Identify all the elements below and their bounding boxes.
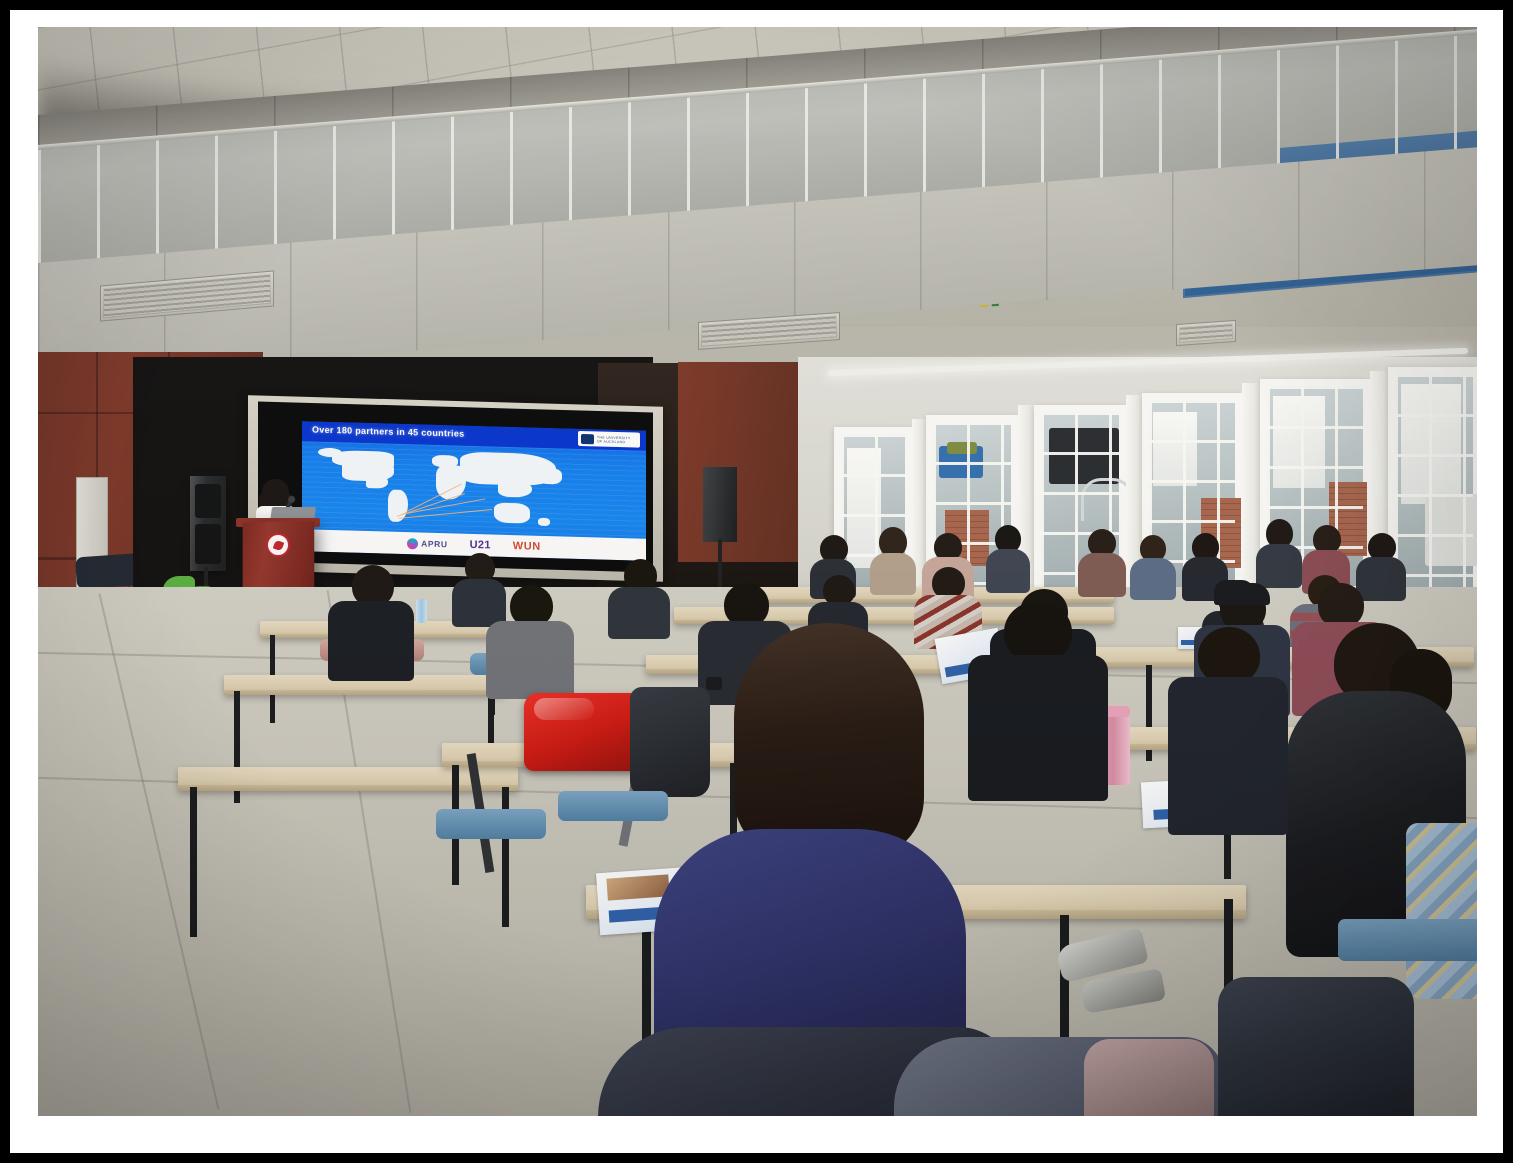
table-leg (502, 787, 509, 927)
air-vent-icon (1176, 320, 1236, 346)
audience-member (968, 601, 1108, 791)
university-logo-text: THE UNIVERSITY OF AUCKLAND (597, 435, 637, 444)
wun-logo-text: WUN (513, 540, 541, 553)
foreground-chair[interactable] (1084, 1039, 1214, 1116)
table-row (178, 767, 518, 791)
screen-scanlines (302, 441, 646, 539)
audience-member-foreground (654, 623, 966, 1093)
audience-member (1168, 627, 1288, 827)
presenter-hair (262, 479, 289, 509)
water-bottle (416, 599, 427, 623)
apru-logo-text: APRU (421, 539, 448, 550)
loudspeaker (190, 476, 226, 571)
apru-logo: APRU (407, 538, 448, 550)
loudspeaker (703, 467, 737, 542)
podium-emblem-icon (266, 533, 290, 557)
audience-member (870, 527, 916, 591)
chair[interactable] (558, 791, 668, 821)
audience-member (486, 585, 574, 693)
cap-icon (1214, 583, 1270, 605)
hair (734, 623, 924, 859)
chair[interactable] (436, 809, 546, 839)
table-leg (190, 787, 197, 937)
blue-backpack (1406, 823, 1477, 999)
chair[interactable] (1338, 919, 1477, 961)
auckland-shield-icon (581, 433, 594, 443)
audience-member (1078, 529, 1126, 593)
presentation-slide[interactable]: Over 180 partners in 45 countries THE UN… (302, 421, 646, 561)
classroom-photograph: Over 180 partners in 45 countries THE UN… (38, 27, 1477, 1116)
u21-logo-text: U21 (470, 539, 491, 552)
audience-member (328, 565, 414, 675)
apru-mark-icon (407, 538, 418, 549)
audience-member (986, 525, 1030, 589)
image-frame: Over 180 partners in 45 countries THE UN… (0, 0, 1513, 1163)
wood-panel-wall (678, 362, 808, 562)
audience-member (1130, 535, 1176, 597)
university-logo: THE UNIVERSITY OF AUCKLAND (578, 431, 640, 448)
foreground-chair[interactable] (1218, 977, 1414, 1116)
